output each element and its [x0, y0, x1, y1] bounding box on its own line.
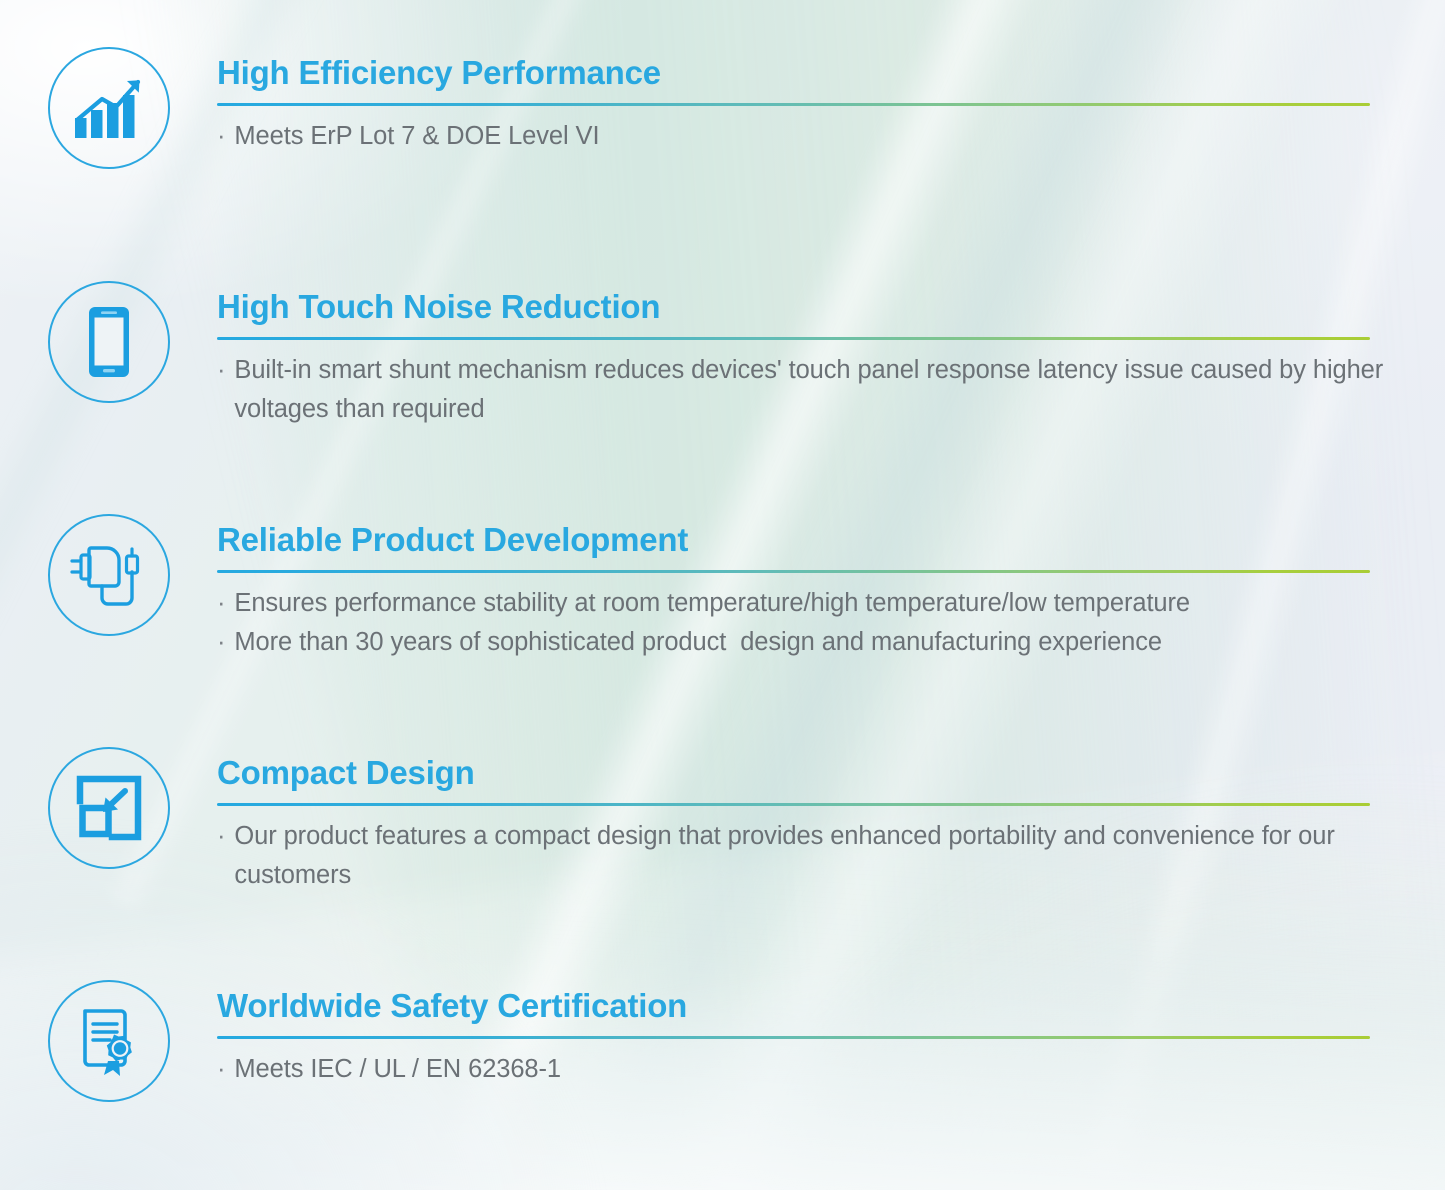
feature-bullets: · Built-in smart shunt mechanism reduces… — [217, 351, 1408, 429]
feature-divider — [217, 570, 1370, 573]
bullet-marker: · — [217, 117, 225, 156]
bullet-item: · Meets ErP Lot 7 & DOE Level VI — [217, 117, 1408, 156]
certificate-seal-icon — [48, 980, 170, 1102]
feature-title: Compact Design — [217, 755, 1408, 791]
bullet-marker: · — [217, 584, 225, 623]
bullet-item: · Ensures performance stability at room … — [217, 584, 1408, 623]
feature-title: High Touch Noise Reduction — [217, 289, 1408, 325]
feature-bullets: · Meets ErP Lot 7 & DOE Level VI — [217, 117, 1408, 156]
feature-divider — [217, 337, 1370, 340]
feature-bullets: · Ensures performance stability at room … — [217, 584, 1408, 662]
feature-title: Worldwide Safety Certification — [217, 988, 1408, 1024]
bullet-text: Meets IEC / UL / EN 62368-1 — [234, 1050, 1408, 1089]
bullet-item: · Our product features a compact design … — [217, 817, 1408, 895]
feature-divider — [217, 1036, 1370, 1039]
feature-item-reliable-product-development: Reliable Product Development · Ensures p… — [48, 514, 1408, 662]
feature-item-worldwide-safety-certification: Worldwide Safety Certification · Meets I… — [48, 980, 1408, 1102]
feature-divider — [217, 103, 1370, 106]
feature-bullets: · Our product features a compact design … — [217, 817, 1408, 895]
bar-chart-growth-icon — [48, 47, 170, 169]
smartphone-icon — [48, 281, 170, 403]
compact-resize-icon — [48, 747, 170, 869]
feature-item-high-efficiency-performance: High Efficiency Performance · Meets ErP … — [48, 47, 1408, 169]
bullet-item: · Meets IEC / UL / EN 62368-1 — [217, 1050, 1408, 1089]
feature-body: Reliable Product Development · Ensures p… — [217, 514, 1408, 662]
bullet-item: · More than 30 years of sophisticated pr… — [217, 623, 1408, 662]
power-adapter-icon — [48, 514, 170, 636]
feature-list-page: High Efficiency Performance · Meets ErP … — [0, 0, 1445, 1190]
bullet-text: Meets ErP Lot 7 & DOE Level VI — [234, 117, 1408, 156]
bullet-marker: · — [217, 817, 225, 856]
bullet-marker: · — [217, 351, 225, 390]
bullet-text: More than 30 years of sophisticated prod… — [234, 623, 1408, 662]
feature-body: Compact Design · Our product features a … — [217, 747, 1408, 895]
bullet-marker: · — [217, 623, 225, 662]
bullet-text: Our product features a compact design th… — [234, 817, 1408, 895]
bullet-text: Built-in smart shunt mechanism reduces d… — [234, 351, 1408, 429]
feature-body: High Touch Noise Reduction · Built-in sm… — [217, 281, 1408, 429]
bullet-item: · Built-in smart shunt mechanism reduces… — [217, 351, 1408, 429]
bullet-marker: · — [217, 1050, 225, 1089]
feature-body: High Efficiency Performance · Meets ErP … — [217, 47, 1408, 156]
feature-bullets: · Meets IEC / UL / EN 62368-1 — [217, 1050, 1408, 1089]
feature-body: Worldwide Safety Certification · Meets I… — [217, 980, 1408, 1089]
feature-divider — [217, 803, 1370, 806]
feature-title: High Efficiency Performance — [217, 55, 1408, 91]
bullet-text: Ensures performance stability at room te… — [234, 584, 1408, 623]
feature-item-compact-design: Compact Design · Our product features a … — [48, 747, 1408, 895]
feature-item-high-touch-noise-reduction: High Touch Noise Reduction · Built-in sm… — [48, 281, 1408, 429]
feature-title: Reliable Product Development — [217, 522, 1408, 558]
